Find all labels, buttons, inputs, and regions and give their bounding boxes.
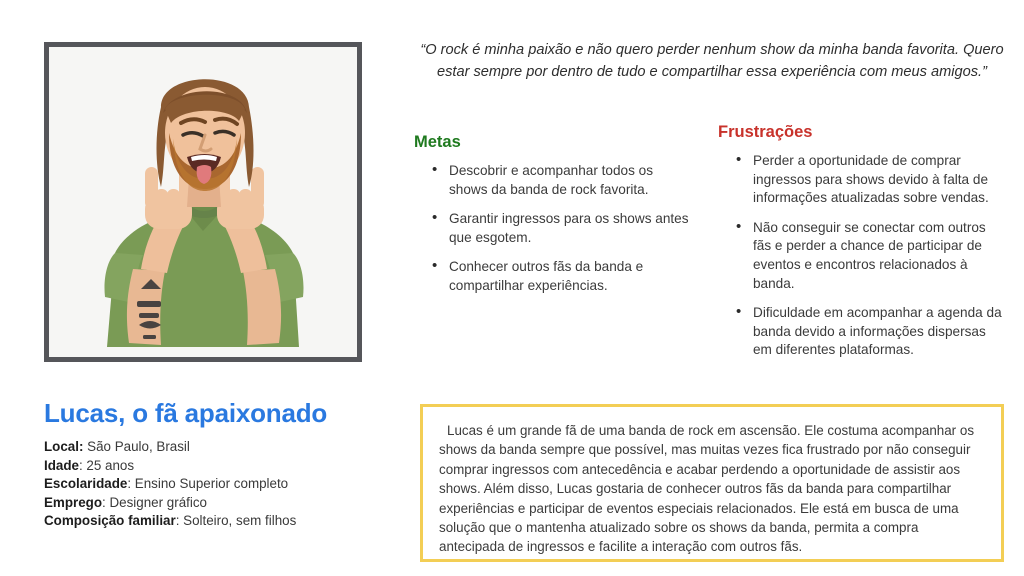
metas-list-item: Conhecer outros fãs da banda e compartil…: [414, 258, 690, 295]
persona-detail-composicao-familiar-label: Composição familiar: [44, 513, 176, 528]
frustracoes-list-item: Dificuldade em acompanhar a agenda da ba…: [718, 304, 1004, 360]
persona-detail-idade-value: : 25 anos: [79, 458, 134, 473]
persona-detail-idade-label: Idade: [44, 458, 79, 473]
persona-detail-escolaridade-value: : Ensino Superior completo: [127, 476, 288, 491]
persona-detail-emprego: Emprego: Designer gráfico: [44, 494, 414, 513]
frustracoes-list-item: Perder a oportunidade de comprar ingress…: [718, 152, 1004, 208]
frustracoes-list-item: Não conseguir se conectar com outros fãs…: [718, 219, 1004, 293]
persona-detail-escolaridade-label: Escolaridade: [44, 476, 127, 491]
persona-detail-local-label: Local:: [44, 439, 83, 454]
persona-detail-emprego-label: Emprego: [44, 495, 102, 510]
persona-detail-emprego-value: : Designer gráfico: [102, 495, 207, 510]
persona-detail-idade: Idade: 25 anos: [44, 457, 414, 476]
metas-heading: Metas: [414, 133, 690, 152]
persona-details-list: Local: São Paulo, Brasil Idade: 25 anos …: [44, 438, 414, 531]
persona-description-box: Lucas é um grande fã de uma banda de roc…: [420, 404, 1004, 562]
frustracoes-section: Frustrações Perder a oportunidade de com…: [718, 123, 1004, 371]
persona-description-text: Lucas é um grande fã de uma banda de roc…: [439, 421, 985, 557]
metas-list-item: Descobrir e acompanhar todos os shows da…: [414, 162, 690, 199]
persona-photo-illustration: [49, 47, 357, 357]
metas-section: Metas Descobrir e acompanhar todos os sh…: [414, 133, 690, 307]
persona-detail-composicao-familiar-value: : Solteiro, sem filhos: [176, 513, 297, 528]
persona-detail-composicao-familiar: Composição familiar: Solteiro, sem filho…: [44, 512, 414, 531]
metas-list: Descobrir e acompanhar todos os shows da…: [414, 162, 690, 296]
persona-quote: “O rock é minha paixão e não quero perde…: [414, 40, 1010, 83]
persona-photo-frame: [44, 42, 362, 362]
persona-detail-local: Local: São Paulo, Brasil: [44, 438, 414, 457]
frustracoes-list: Perder a oportunidade de comprar ingress…: [718, 152, 1004, 360]
metas-list-item: Garantir ingressos para os shows antes q…: [414, 210, 690, 247]
persona-detail-local-value: São Paulo, Brasil: [83, 439, 189, 454]
persona-detail-escolaridade: Escolaridade: Ensino Superior completo: [44, 475, 414, 494]
persona-name: Lucas, o fã apaixonado: [44, 398, 327, 429]
persona-photo: [49, 47, 357, 357]
frustracoes-heading: Frustrações: [718, 123, 1004, 142]
